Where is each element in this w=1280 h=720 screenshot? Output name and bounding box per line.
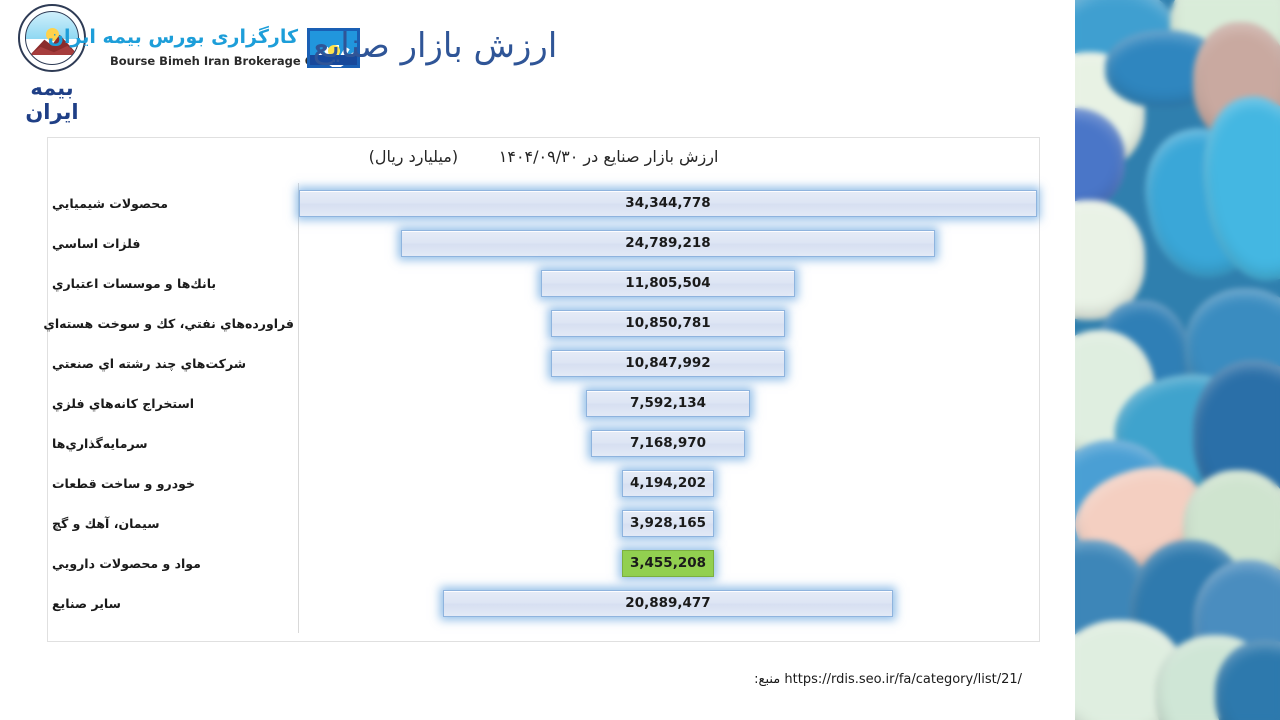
bar[interactable]: 10,847,992: [551, 350, 785, 377]
bar[interactable]: 7,168,970: [591, 430, 745, 457]
bar-track: 11,805,504: [299, 263, 1037, 303]
category-label: محصولات شيميايي: [44, 196, 294, 211]
category-label: بانك‌ها و موسسات اعتباري: [44, 276, 294, 291]
bar-value-label: 7,592,134: [630, 395, 706, 411]
bar-track: 34,344,778: [299, 183, 1037, 223]
category-label: خودرو و ساخت قطعات: [44, 476, 294, 491]
bar-value-label: 34,344,778: [625, 195, 710, 211]
source-note: https://rdis.seo.ir/fa/category/list/21/…: [0, 672, 1040, 687]
bar-rows: محصولات شيميايي34,344,778فلزات اساسي24,7…: [48, 183, 1039, 623]
bar[interactable]: 11,805,504: [541, 270, 795, 297]
bar-track: 20,889,477: [299, 583, 1037, 623]
bar-value-label: 11,805,504: [625, 275, 710, 291]
bar-track: 7,168,970: [299, 423, 1037, 463]
bar-value-label: 7,168,970: [630, 435, 706, 451]
chart-row: سرمايه‌گذاري‌ها7,168,970: [48, 423, 1039, 463]
source-label: منبع:: [754, 672, 780, 687]
bar[interactable]: 24,789,218: [401, 230, 935, 257]
bar-value-label: 3,455,208: [630, 555, 706, 571]
bar-track: 4,194,202: [299, 463, 1037, 503]
bar[interactable]: 34,344,778: [299, 190, 1037, 217]
bar-value-label: 3,928,165: [630, 515, 706, 531]
chart-row: ساير صنايع20,889,477: [48, 583, 1039, 623]
chart-row: استخراج كانه‌هاي فلزي7,592,134: [48, 383, 1039, 423]
bar-highlighted[interactable]: 3,455,208: [622, 550, 714, 577]
bar-track: 7,592,134: [299, 383, 1037, 423]
category-label: فراورده‌هاي نفتي، كك و سوخت هسته‌اي: [44, 316, 294, 331]
bar-track: 10,847,992: [299, 343, 1037, 383]
chart-row: سيمان، آهك و گچ3,928,165: [48, 503, 1039, 543]
bar-track: 3,928,165: [299, 503, 1037, 543]
slide: بیمه ایران کارگزاری بورس بیمه ایران Bour…: [0, 0, 1280, 720]
chart-container: ارزش بازار صنایع در ۱۴۰۴/۰۹/۳۰ (میلیارد …: [47, 137, 1040, 642]
bar-track: 10,850,781: [299, 303, 1037, 343]
bar-value-label: 10,847,992: [625, 355, 710, 371]
category-label: فلزات اساسي: [44, 236, 294, 251]
bar-value-label: 20,889,477: [625, 595, 710, 611]
bar-track: 24,789,218: [299, 223, 1037, 263]
chart-row: فلزات اساسي24,789,218: [48, 223, 1039, 263]
category-label: سرمايه‌گذاري‌ها: [44, 436, 294, 451]
photo-blur-overlay: [1075, 0, 1280, 720]
page-title: ارزش بازار صنایع: [75, 26, 795, 66]
bar-value-label: 24,789,218: [625, 235, 710, 251]
category-label: سيمان، آهك و گچ: [44, 516, 294, 531]
category-label: مواد و محصولات دارويي: [44, 556, 294, 571]
bar[interactable]: 4,194,202: [622, 470, 714, 497]
bar[interactable]: 7,592,134: [586, 390, 750, 417]
chart-row: شركت‌هاي چند رشته اي صنعتي10,847,992: [48, 343, 1039, 383]
bar[interactable]: 20,889,477: [443, 590, 893, 617]
chart-row: مواد و محصولات دارويي3,455,208: [48, 543, 1039, 583]
slide-header: بیمه ایران کارگزاری بورس بیمه ایران Bour…: [0, 0, 1075, 120]
bar-value-label: 10,850,781: [625, 315, 710, 331]
chart-row: محصولات شيميايي34,344,778: [48, 183, 1039, 223]
category-label: استخراج كانه‌هاي فلزي: [44, 396, 294, 411]
chart-plot-area: محصولات شيميايي34,344,778فلزات اساسي24,7…: [48, 183, 1039, 635]
chart-row: فراورده‌هاي نفتي، كك و سوخت هسته‌اي10,85…: [48, 303, 1039, 343]
chart-title: ارزش بازار صنایع در ۱۴۰۴/۰۹/۳۰ (میلیارد …: [48, 147, 1039, 166]
pills-photo: [1075, 0, 1280, 720]
bar[interactable]: 3,928,165: [622, 510, 714, 537]
source-url[interactable]: https://rdis.seo.ir/fa/category/list/21/: [784, 672, 1022, 687]
chart-row: خودرو و ساخت قطعات4,194,202: [48, 463, 1039, 503]
category-label: شركت‌هاي چند رشته اي صنعتي: [44, 356, 294, 371]
chart-row: بانك‌ها و موسسات اعتباري11,805,504: [48, 263, 1039, 303]
bar-track: 3,455,208: [299, 543, 1037, 583]
category-label: ساير صنايع: [44, 596, 294, 611]
bar[interactable]: 10,850,781: [551, 310, 785, 337]
bar-value-label: 4,194,202: [630, 475, 706, 491]
bimeh-logo-wordmark: بیمه ایران: [8, 76, 96, 124]
